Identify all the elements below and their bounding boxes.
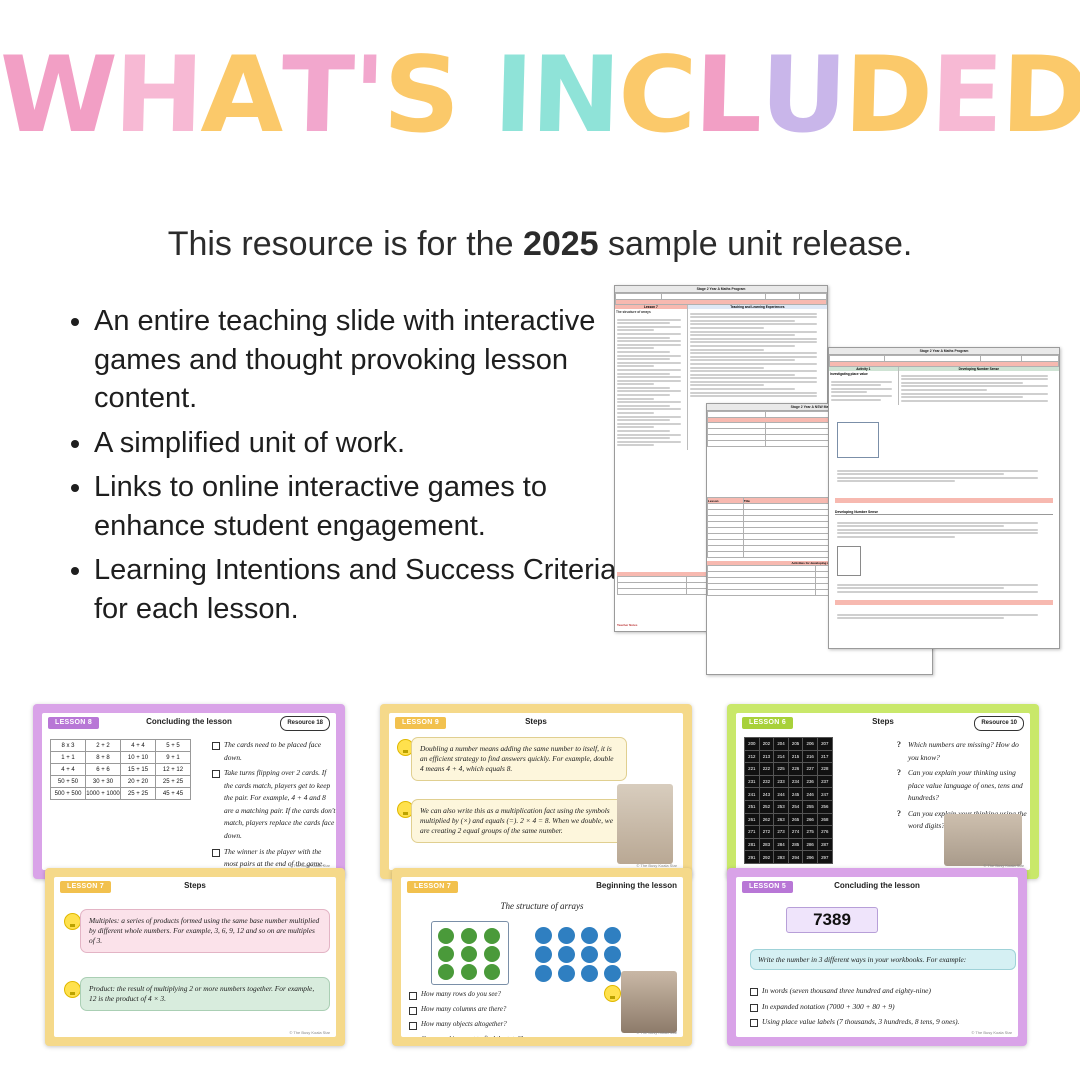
grid-row: 261262263265266268	[745, 813, 833, 826]
grid-cell: 244	[774, 788, 789, 801]
card-row: 50 + 5030 + 3020 + 2025 + 25	[51, 776, 191, 788]
slide-lesson-7-steps[interactable]: LESSON 7 Steps Multiples: a series of pr…	[45, 868, 345, 1046]
number-card: 20 + 20	[121, 776, 156, 788]
slide1-resource: Resource 18	[280, 716, 330, 731]
students-photo	[944, 814, 1022, 866]
array-dot	[535, 965, 552, 982]
doc1-right-lines	[688, 309, 827, 401]
grid-cell: 276	[817, 826, 832, 839]
grid-cell: 205	[788, 738, 803, 751]
slide6-number: 7389	[786, 907, 878, 933]
grid-cell: 256	[817, 800, 832, 813]
slide5-footer: © The Busy Koala Star	[636, 1030, 677, 1035]
feature-list: An entire teaching slide with interactiv…	[58, 302, 618, 635]
grid-cell: 283	[759, 838, 774, 851]
title-letter-6	[456, 34, 496, 156]
grid-row: 271272273274275276	[745, 826, 833, 839]
slide2-title: Steps	[389, 717, 683, 726]
grid-cell: 261	[745, 813, 760, 826]
number-card: 6 + 6	[86, 764, 121, 776]
question-item: Can you skip count to find the total?	[409, 1034, 589, 1037]
slide3-topbar: LESSON 6 Steps Resource 10	[736, 713, 1030, 732]
grid-cell: 233	[774, 775, 789, 788]
lightbulb-icon	[64, 981, 81, 998]
array-dot	[484, 928, 500, 944]
subtitle-before: This resource is for the	[168, 225, 523, 263]
grid-cell: 253	[774, 800, 789, 813]
grid-cell: 232	[759, 775, 774, 788]
slide-lesson-8-concluding[interactable]: LESSON 8 Concluding the lesson Resource …	[33, 704, 345, 879]
lightbulb-icon	[64, 913, 81, 930]
grid-cell: 293	[774, 851, 789, 864]
grid-cell: 284	[774, 838, 789, 851]
slide2-bubble-2: We can also write this as a multiplicati…	[411, 799, 627, 843]
feature-item: Links to online interactive games to enh…	[94, 468, 618, 545]
grid-cell: 281	[745, 838, 760, 851]
title-letter-1: H	[112, 34, 204, 156]
slide-lesson-9-steps[interactable]: LESSON 9 Steps Doubling a number means a…	[380, 704, 692, 879]
array-dot	[535, 927, 552, 944]
number-card: 8 + 8	[86, 752, 121, 764]
slide1-steps: The cards need to be placed face down.Ta…	[212, 739, 336, 870]
slide1-card-grid: 8 x 32 + 24 + 45 + 51 + 18 + 810 + 109 +…	[50, 739, 191, 800]
grid-cell: 206	[803, 738, 818, 751]
slide5-topbar: LESSON 7 Beginning the lesson	[401, 877, 683, 896]
grid-cell: 254	[788, 800, 803, 813]
card-row: 1 + 18 + 810 + 109 + 1	[51, 752, 191, 764]
number-card: 5 + 5	[156, 740, 191, 752]
step-item: The cards need to be placed face down.	[212, 739, 336, 764]
array-dot	[461, 946, 477, 962]
grid-cell: 272	[759, 826, 774, 839]
doc1-header: Stage 2 Year A Maths Program	[615, 286, 827, 293]
grid-cell: 221	[745, 763, 760, 776]
array-dot	[484, 964, 500, 980]
grid-cell: 262	[759, 813, 774, 826]
grid-row: 241243244245246247	[745, 788, 833, 801]
grid-cell: 266	[803, 813, 818, 826]
number-card: 4 + 4	[51, 764, 86, 776]
title-letter-4: '	[351, 34, 386, 156]
title-letter-14: D	[1000, 34, 1080, 156]
page-title: WHAT'S INCLUDED	[0, 34, 1080, 156]
number-card: 45 + 45	[156, 788, 191, 800]
title-letter-13: E	[929, 34, 1004, 156]
grid-cell: 274	[788, 826, 803, 839]
number-card: 4 + 4	[121, 740, 156, 752]
grid-cell: 251	[745, 800, 760, 813]
grid-cell: 212	[745, 750, 760, 763]
unit-overview-page-3[interactable]: Stage 2 Year A Maths Program Activity 1 …	[828, 347, 1060, 649]
document-preview-stack: Stage 2 Year A Maths Program Lesson 7 Th…	[610, 285, 1070, 680]
title-letter-3: T	[280, 34, 355, 156]
grid-row: 221222225226227228	[745, 763, 833, 776]
grid-cell: 207	[817, 738, 832, 751]
title-letter-7: I	[492, 34, 534, 156]
grid-cell: 275	[803, 826, 818, 839]
title-letter-2: A	[199, 34, 284, 156]
slide6-answers: In words (seven thousand three hundred a…	[750, 985, 1006, 1032]
array-dot	[604, 965, 621, 982]
grid-cell: 297	[817, 851, 832, 864]
grid-cell: 286	[803, 838, 818, 851]
array-dot	[581, 927, 598, 944]
array-dot	[558, 927, 575, 944]
slide-lesson-6-steps[interactable]: LESSON 6 Steps Resource 10 2002022042052…	[727, 704, 1039, 879]
number-card: 10 + 10	[121, 752, 156, 764]
question-item: How many columns are there?	[409, 1004, 589, 1016]
array-dot	[604, 946, 621, 963]
array-dot	[438, 928, 454, 944]
feature-item: A simplified unit of work.	[94, 424, 618, 463]
grid-cell: 225	[774, 763, 789, 776]
grid-cell: 294	[788, 851, 803, 864]
grid-cell: 296	[803, 851, 818, 864]
doc1-left-lines	[615, 315, 687, 450]
grid-cell: 231	[745, 775, 760, 788]
grid-cell: 252	[759, 800, 774, 813]
grid-row: 200202204205206207	[745, 738, 833, 751]
grid-cell: 222	[759, 763, 774, 776]
grid-cell: 226	[788, 763, 803, 776]
grid-cell: 255	[803, 800, 818, 813]
array-dot	[484, 946, 500, 962]
feature-item: An entire teaching slide with interactiv…	[94, 302, 618, 418]
slide3-resource: Resource 10	[974, 716, 1024, 731]
grid-cell: 213	[759, 750, 774, 763]
feature-item: Learning Intentions and Success Criteria…	[94, 551, 618, 628]
number-card: 500 + 500	[51, 788, 86, 800]
array-dot	[581, 965, 598, 982]
grid-cell: 243	[759, 788, 774, 801]
slide6-instruction: Write the number in 3 different ways in …	[750, 949, 1016, 970]
answer-item: In words (seven thousand three hundred a…	[750, 985, 1006, 998]
question-item: How many rows do you see?	[409, 989, 589, 1001]
array-dot	[558, 946, 575, 963]
grid-cell: 263	[774, 813, 789, 826]
grid-cell: 271	[745, 826, 760, 839]
number-card: 50 + 50	[51, 776, 86, 788]
grid-cell: 292	[759, 851, 774, 864]
grid-cell: 246	[803, 788, 818, 801]
grid-row: 251252253254255256	[745, 800, 833, 813]
slide-lesson-5-concluding[interactable]: LESSON 5 Concluding the lesson 7389 Writ…	[727, 868, 1027, 1046]
array-dot	[438, 946, 454, 962]
card-row: 4 + 46 + 615 + 1512 + 12	[51, 764, 191, 776]
doc3-meta-table	[829, 355, 1059, 367]
grid-cell: 214	[774, 750, 789, 763]
slide5-questions: How many rows do you see?How many column…	[409, 989, 589, 1037]
grid-row: 212213214215216217	[745, 750, 833, 763]
number-card: 8 x 3	[51, 740, 86, 752]
doc1-top-table	[615, 293, 827, 305]
title-letter-11: U	[758, 34, 847, 156]
number-card: 15 + 15	[121, 764, 156, 776]
grid-cell: 204	[774, 738, 789, 751]
grid-cell: 216	[803, 750, 818, 763]
grid-cell: 227	[803, 763, 818, 776]
grid-cell: 268	[817, 813, 832, 826]
grid-cell: 287	[817, 838, 832, 851]
grid-cell: 236	[803, 775, 818, 788]
array-dot	[438, 964, 454, 980]
slide5-title: Beginning the lesson	[567, 881, 677, 890]
slide4-bubble-2: Product: the result of multiplying 2 or …	[80, 977, 330, 1011]
number-card: 30 + 30	[86, 776, 121, 788]
subtitle-after: sample unit release.	[599, 225, 913, 263]
question-item: Can you explain your thinking using plac…	[896, 767, 1028, 805]
grid-cell: 273	[774, 826, 789, 839]
array-dot	[535, 946, 552, 963]
slide2-topbar: LESSON 9 Steps	[389, 713, 683, 732]
grid-cell: 291	[745, 851, 760, 864]
grid-cell: 202	[759, 738, 774, 751]
answer-item: Using place value labels (7 thousands, 3…	[750, 1016, 1006, 1029]
grid-row: 291292293294296297	[745, 851, 833, 864]
grid-row: 231232233234236237	[745, 775, 833, 788]
grid-cell: 200	[745, 738, 760, 751]
slide6-footer: © The Busy Koala Star	[971, 1030, 1012, 1035]
grid-cell: 217	[817, 750, 832, 763]
question-item: How many objects altogether?	[409, 1019, 589, 1031]
title-letter-10: L	[693, 34, 763, 156]
array-dot	[581, 946, 598, 963]
slide2-bubble-1: Doubling a number means adding the same …	[411, 737, 627, 781]
slide4-topbar: LESSON 7 Steps	[54, 877, 336, 896]
slide5-badge: LESSON 7	[407, 881, 458, 893]
array-dot	[461, 928, 477, 944]
grid-cell: 285	[788, 838, 803, 851]
slide-lesson-7-beginning[interactable]: LESSON 7 Beginning the lesson The struct…	[392, 868, 692, 1046]
number-card: 1000 + 1000	[86, 788, 121, 800]
subtitle: This resource is for the 2025 sample uni…	[0, 225, 1080, 264]
answer-item: In expanded notation (7000 + 300 + 80 + …	[750, 1001, 1006, 1014]
slide5-array-right	[531, 921, 627, 983]
grid-cell: 247	[817, 788, 832, 801]
grid-cell: 241	[745, 788, 760, 801]
number-card: 1 + 1	[51, 752, 86, 764]
grid-cell: 265	[788, 813, 803, 826]
slide1-topbar: LESSON 8 Concluding the lesson Resource …	[42, 713, 336, 732]
grid-cell: 237	[817, 775, 832, 788]
slide3-number-grid: 2002022042052062072122132142152162172212…	[744, 737, 833, 864]
step-item: Take turns flipping over 2 cards. If the…	[212, 767, 336, 842]
number-card: 25 + 25	[156, 776, 191, 788]
number-card: 9 + 1	[156, 752, 191, 764]
grid-cell: 215	[788, 750, 803, 763]
student-photo	[617, 784, 673, 864]
lightbulb-icon	[604, 985, 621, 1002]
number-card: 2 + 2	[86, 740, 121, 752]
grid-cell: 228	[817, 763, 832, 776]
student-photo	[621, 971, 677, 1033]
number-card: 12 + 12	[156, 764, 191, 776]
title-letter-12: D	[843, 34, 934, 156]
subtitle-year: 2025	[523, 225, 599, 263]
array-dot	[558, 965, 575, 982]
slide5-array-left	[431, 921, 509, 985]
slide4-footer: © The Busy Koala Star	[289, 1030, 330, 1035]
doc3-header: Stage 2 Year A Maths Program	[829, 348, 1059, 355]
slide4-title: Steps	[54, 881, 336, 890]
card-row: 8 x 32 + 24 + 45 + 5	[51, 740, 191, 752]
slide4-bubble-1: Multiples: a series of products formed u…	[80, 909, 330, 953]
title-letter-5: S	[381, 34, 460, 156]
slide6-title: Concluding the lesson	[736, 881, 1018, 890]
grid-cell: 245	[788, 788, 803, 801]
question-item: Which numbers are missing? How do you kn…	[896, 739, 1028, 764]
card-row: 500 + 5001000 + 100025 + 2545 + 45	[51, 788, 191, 800]
number-card: 25 + 25	[121, 788, 156, 800]
array-dot	[604, 927, 621, 944]
grid-cell: 234	[788, 775, 803, 788]
array-dot	[461, 964, 477, 980]
title-letter-8: N	[530, 34, 622, 156]
grid-row: 281283284285286287	[745, 838, 833, 851]
slide5-heading: The structure of arrays	[401, 901, 683, 911]
slide6-topbar: LESSON 5 Concluding the lesson	[736, 877, 1018, 896]
title-letter-9: C	[617, 34, 698, 156]
title-letter-0: W	[0, 34, 118, 156]
